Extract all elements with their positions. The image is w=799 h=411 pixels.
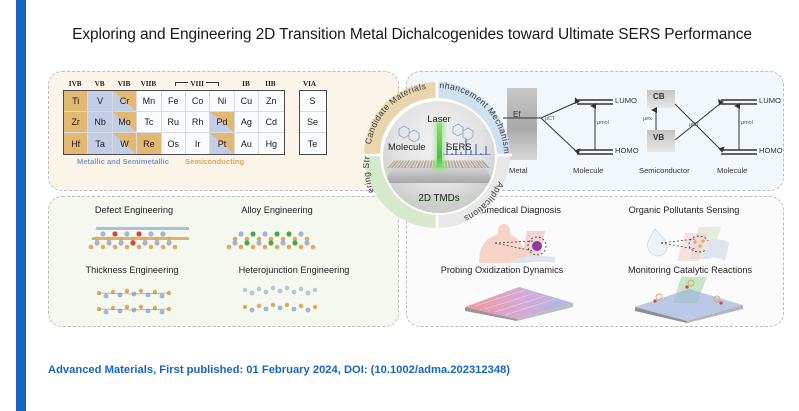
group-header-ivb: IVB <box>63 80 87 88</box>
legend-metallic: Metallic and Semimetallic <box>77 157 169 166</box>
mu-mol-label-semiconductor: μmol <box>741 120 753 126</box>
legend-semiconducting: Semiconducting <box>185 157 244 166</box>
element-cell-s[interactable]: S <box>300 91 326 112</box>
element-cell-mo[interactable]: Mo <box>113 112 137 133</box>
strategy-label-alloy: Alloy Engineering <box>207 205 347 215</box>
element-cell-os[interactable]: Os <box>162 133 186 154</box>
application-label-oxidization: Probing Oxidization Dynamics <box>409 265 595 275</box>
heterojunction-illustration <box>229 281 341 321</box>
element-cell-tc[interactable]: Tc <box>137 112 161 133</box>
element-cell-cr[interactable]: Cr <box>113 91 137 112</box>
thickness-layers-illustration <box>83 281 195 321</box>
mu-ct-label-metal: μCT <box>545 116 555 122</box>
element-cell-se[interactable]: Se <box>300 112 326 133</box>
laser-glow <box>428 157 452 173</box>
strategy-label-thickness: Thickness Engineering <box>57 265 207 275</box>
hub-label-sers: SERS <box>446 141 472 152</box>
transition-metal-grid: Ti V Cr Mn Fe Co Ni Cu Zn Zr Nb Mo <box>63 90 285 155</box>
element-cell-fe[interactable]: Fe <box>162 91 186 112</box>
element-cell-ru[interactable]: Ru <box>162 112 186 133</box>
group-header-viii-label: VIII <box>190 80 204 88</box>
pollutants-illustration <box>637 221 747 263</box>
element-cell-hf[interactable]: Hf <box>64 133 88 154</box>
group-header-viib: VIIB <box>136 80 160 88</box>
periodic-table: IVB VB VIB VIIB VIII IB IIB VIA Ti V Cr <box>63 80 327 166</box>
energy-diagram-semiconductor: CB VB LUMO HOMO μex μCT μmol Semiconduct… <box>639 84 785 176</box>
panel-engineering-strategies: Defect Engineering Alloy Engineering Thi… <box>48 196 399 327</box>
application-label-catalytic: Monitoring Catalytic Reactions <box>595 265 785 275</box>
defect-lattice-illustration <box>77 221 189 263</box>
table-row: S <box>300 91 326 112</box>
cb-label: CB <box>653 92 665 101</box>
energy-diagram-metal: Ef LUMO HOMO μCT μmol Metal Molecule <box>501 84 641 176</box>
mu-ct-label-semiconductor: μCT <box>689 122 699 128</box>
hub-label-laser: Laser <box>427 113 450 124</box>
caption-molecule-semiconductor: Molecule <box>717 166 747 175</box>
catalytic-illustration <box>629 277 749 323</box>
strategy-label-heterojunction: Heterojunction Engineering <box>199 265 389 275</box>
lumo-label-metal: LUMO <box>615 96 637 105</box>
group-header-vb: VB <box>87 80 111 88</box>
element-cell-nb[interactable]: Nb <box>88 112 112 133</box>
citation-line: Advanced Materials, First published: 01 … <box>48 364 510 376</box>
group-header-vib: VIB <box>112 80 136 88</box>
alloy-lattice-illustration <box>215 221 327 263</box>
element-cell-v[interactable]: V <box>88 91 112 112</box>
element-cell-te[interactable]: Te <box>300 133 326 154</box>
panel-candidate-materials: IVB VB VIB VIIB VIII IB IIB VIA Ti V Cr <box>48 71 399 191</box>
element-cell-cd[interactable]: Cd <box>259 112 283 133</box>
figure-page: Exploring and Engineering 2D Transition … <box>32 0 799 411</box>
table-row: Hf Ta W Re Os Ir Pt Au Hg <box>64 133 284 154</box>
element-cell-zr[interactable]: Zr <box>64 112 88 133</box>
homo-label-semiconductor: HOMO <box>759 146 783 155</box>
table-row: Se <box>300 112 326 133</box>
group-header-ib: IB <box>234 80 258 88</box>
element-cell-ti[interactable]: Ti <box>64 91 88 112</box>
group-header-viii: VIII <box>161 80 234 88</box>
strategy-label-defect: Defect Engineering <box>69 205 199 215</box>
element-cell-ir[interactable]: Ir <box>186 133 210 154</box>
element-cell-ta[interactable]: Ta <box>88 133 112 154</box>
lumo-label-semiconductor: LUMO <box>759 96 781 105</box>
wheel-hub-illustration: Laser Molecule SERS 2D TMDs <box>381 99 497 215</box>
group-header-via: VIA <box>297 80 323 88</box>
table-row: Te <box>300 133 326 154</box>
central-concept-wheel: Candidate Materials Enhancement Mechanis… <box>354 72 520 238</box>
application-label-pollutants: Organic Pollutants Sensing <box>599 205 769 215</box>
element-cell-mn[interactable]: Mn <box>137 91 161 112</box>
hub-label-molecule: Molecule <box>388 141 426 152</box>
chalcogen-grid: S Se Te <box>299 90 327 155</box>
element-cell-pd[interactable]: Pd <box>210 112 234 133</box>
caption-semiconductor: Semiconductor <box>639 166 690 175</box>
left-accent-rail <box>16 0 26 411</box>
element-cell-co[interactable]: Co <box>186 91 210 112</box>
element-cell-cu[interactable]: Cu <box>235 91 259 112</box>
element-cell-ag[interactable]: Ag <box>235 112 259 133</box>
element-cell-re[interactable]: Re <box>137 133 161 154</box>
oxidization-illustration <box>459 281 579 321</box>
element-cell-zn[interactable]: Zn <box>259 91 283 112</box>
caption-molecule-metal: Molecule <box>573 166 603 175</box>
element-cell-rh[interactable]: Rh <box>186 112 210 133</box>
table-row: Zr Nb Mo Tc Ru Rh Pd Ag Cd <box>64 112 284 133</box>
mu-ex-label: μex <box>643 116 652 122</box>
element-cell-au[interactable]: Au <box>235 133 259 154</box>
mu-mol-label-metal: μmol <box>597 120 609 126</box>
element-cell-w[interactable]: W <box>113 133 137 154</box>
table-row: Ti V Cr Mn Fe Co Ni Cu Zn <box>64 91 284 112</box>
hub-label-substrate: 2D TMDs <box>418 193 459 204</box>
element-cell-ni[interactable]: Ni <box>210 91 234 112</box>
element-cell-hg[interactable]: Hg <box>259 133 283 154</box>
group-header-iib: IIB <box>258 80 282 88</box>
element-cell-pt[interactable]: Pt <box>210 133 234 154</box>
homo-label-metal: HOMO <box>615 146 639 155</box>
page-title: Exploring and Engineering 2D Transition … <box>32 26 792 44</box>
periodic-table-legend: Metallic and Semimetallic Semiconducting <box>63 157 327 166</box>
vb-label: VB <box>653 133 664 142</box>
periodic-table-group-headers: IVB VB VIB VIIB VIII IB IIB VIA <box>63 80 327 88</box>
